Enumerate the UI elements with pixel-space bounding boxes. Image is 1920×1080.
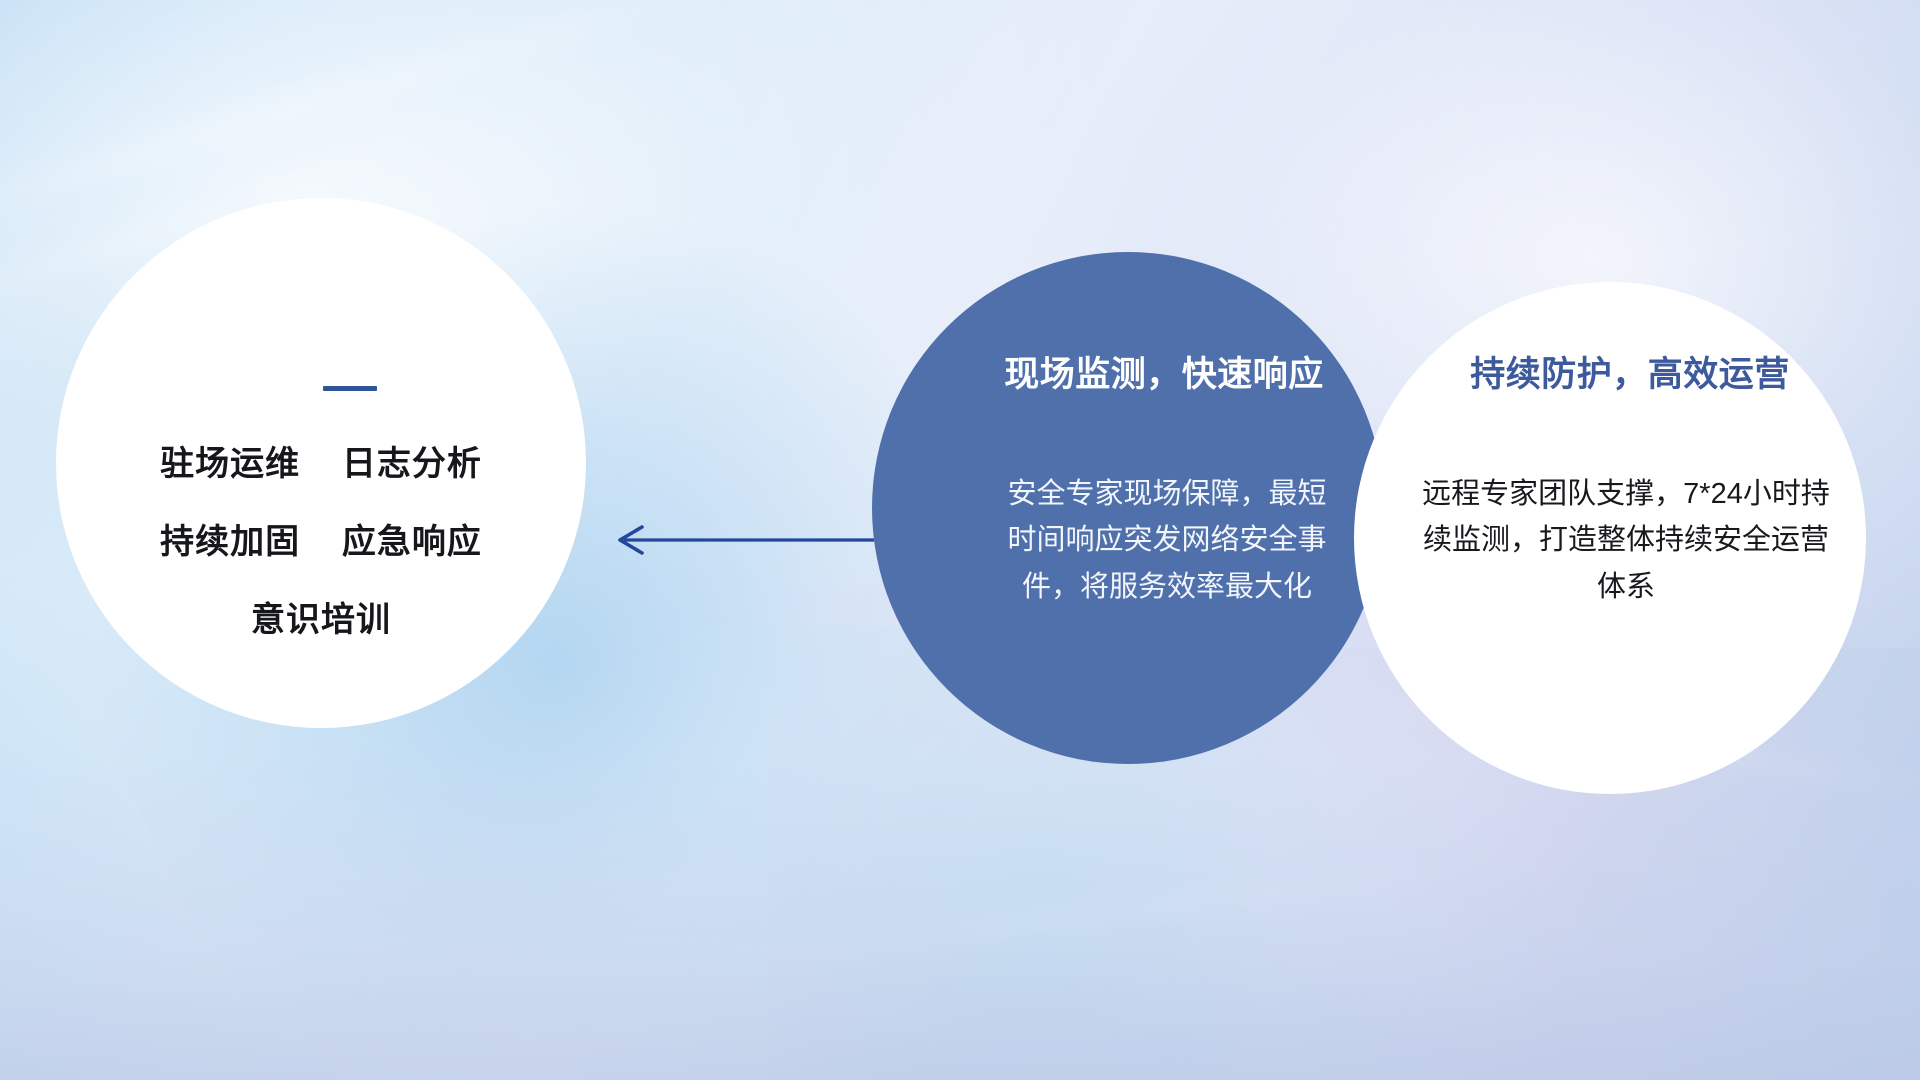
- continuous-protection-circle: 持续防护，高效运营 远程专家团队支撑，7*24小时持续监测，打造整体持续安全运营…: [1354, 282, 1866, 794]
- onsite-monitoring-circle: 现场监测，快速响应 安全专家现场保障，最短时间响应突发网络安全事件，将服务效率最…: [872, 252, 1384, 764]
- onsite-monitoring-content: 现场监测，快速响应 安全专家现场保障，最短时间响应突发网络安全事件，将服务效率最…: [872, 252, 1384, 764]
- capability-tags-content: 驻场运维 日志分析 持续加固 应急响应 意识培训: [56, 198, 586, 728]
- capability-tag-line: 意识培训: [251, 603, 391, 637]
- capability-tag-line: 驻场运维 日志分析: [160, 447, 482, 481]
- continuous-protection-body: 远程专家团队支撑，7*24小时持续监测，打造整体持续安全运营体系: [1421, 471, 1831, 612]
- onsite-monitoring-title: 现场监测，快速响应: [1004, 356, 1324, 395]
- capability-tags-circle: 驻场运维 日志分析 持续加固 应急响应 意识培训: [56, 198, 586, 728]
- background-bottom-haze: [0, 756, 1920, 1080]
- capability-tag-line: 持续加固 应急响应: [160, 525, 482, 559]
- onsite-monitoring-body: 安全专家现场保障，最短时间响应突发网络安全事件，将服务效率最大化: [1002, 471, 1332, 612]
- left-pointing-arrow-icon: [596, 518, 876, 562]
- short-dash-divider-icon: [323, 386, 377, 391]
- continuous-protection-title: 持续防护，高效运营: [1470, 356, 1790, 395]
- continuous-protection-content: 持续防护，高效运营 远程专家团队支撑，7*24小时持续监测，打造整体持续安全运营…: [1354, 282, 1866, 794]
